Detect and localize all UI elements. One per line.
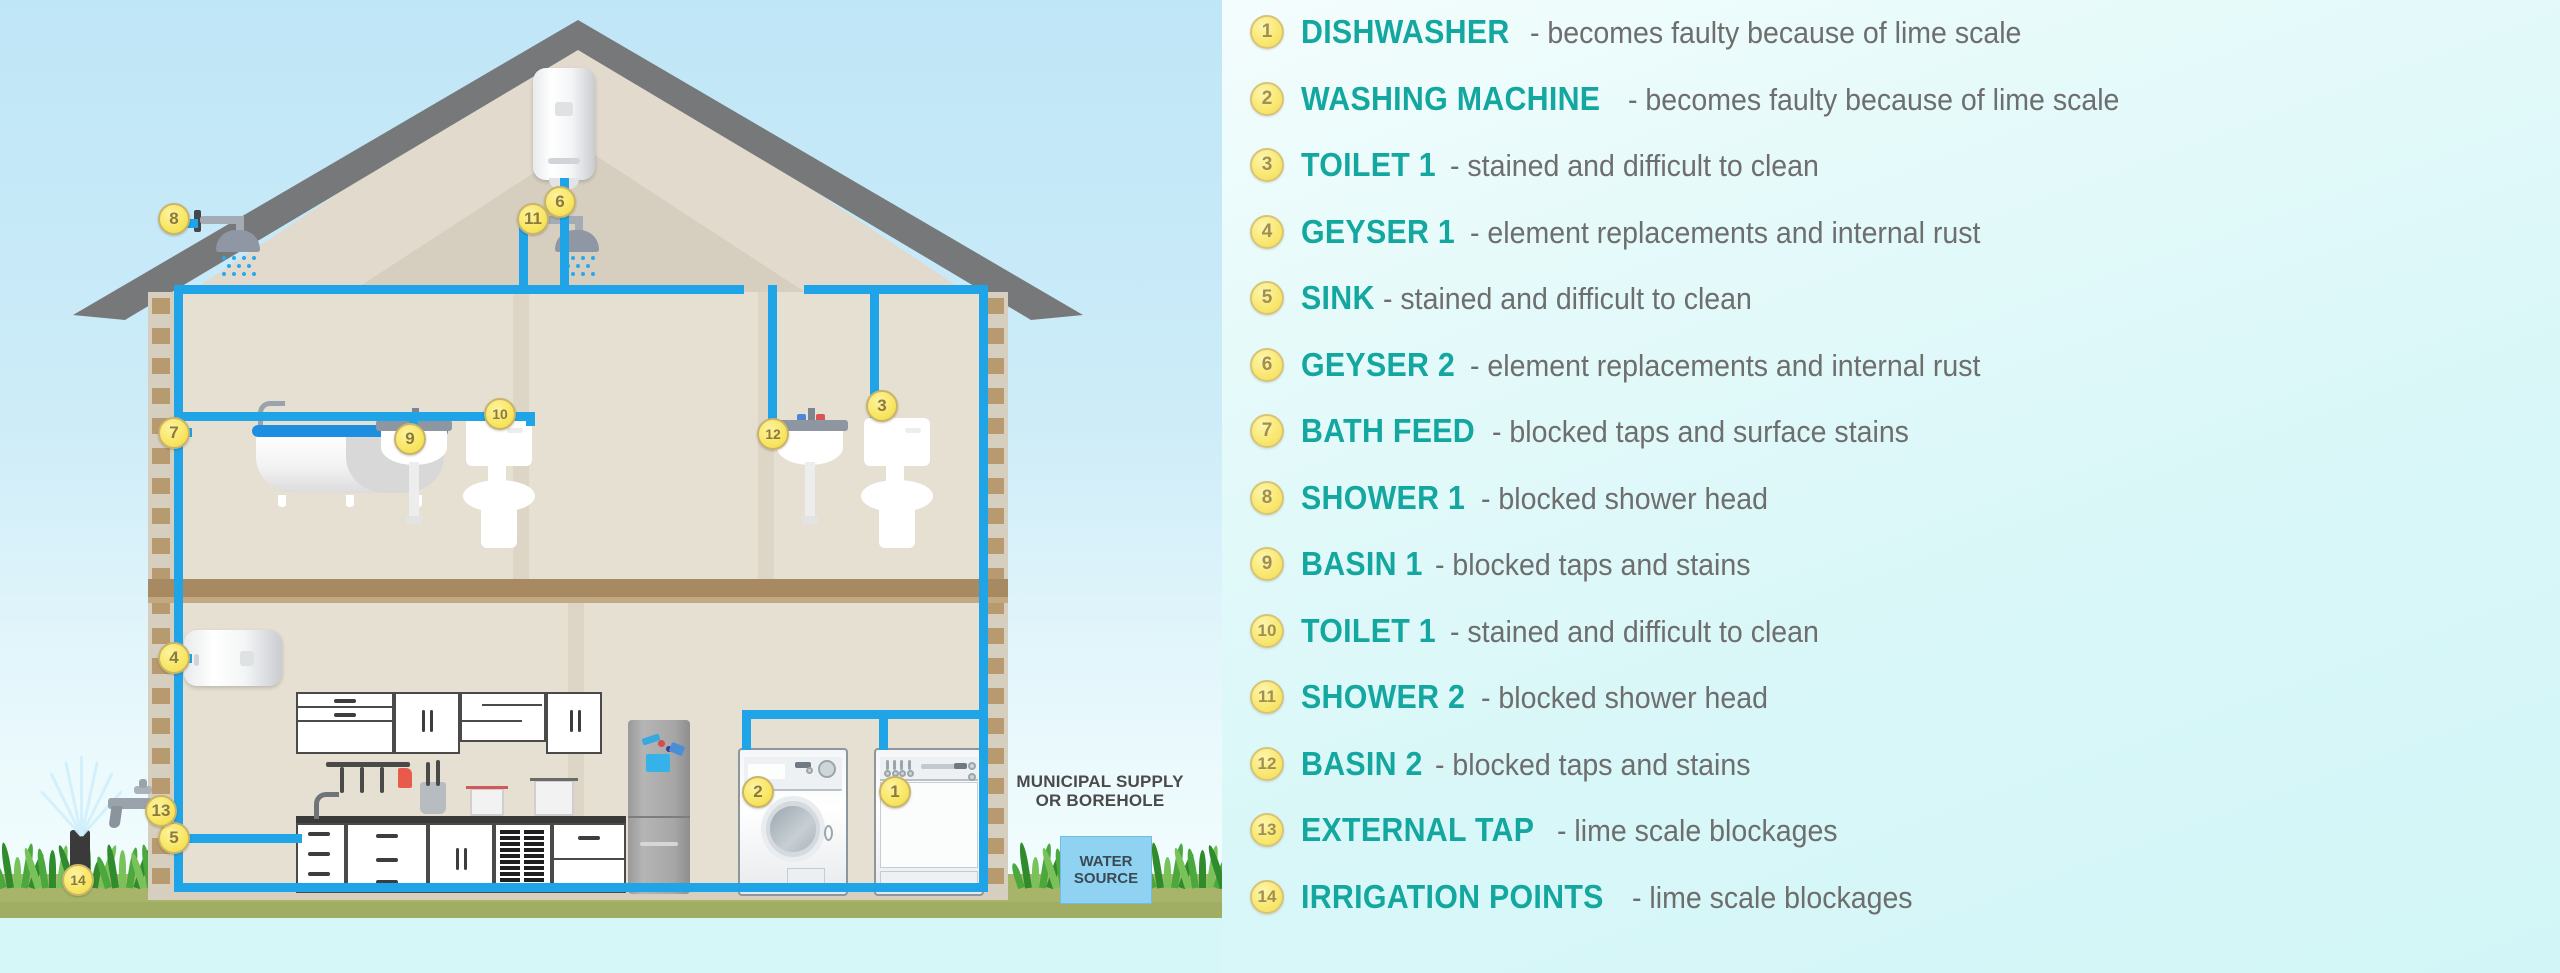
geyser-label <box>240 651 254 666</box>
cooking-pot <box>470 788 504 816</box>
legend-badge-1: 1 <box>1250 15 1284 49</box>
brick <box>986 868 1004 884</box>
legend-row-7[interactable]: 7BATH FEED - blocked taps and surface st… <box>1250 411 1945 451</box>
pipe-dishwasher-drop <box>879 710 888 750</box>
legend-row-11[interactable]: 11SHOWER 2 - blocked shower head <box>1250 677 1793 717</box>
kitchen-upper-cabinet <box>394 692 460 754</box>
marker-7[interactable]: 7 <box>158 417 190 449</box>
legend-name-8: SHOWER 1 <box>1301 479 1465 517</box>
basin-pedestal <box>805 462 814 522</box>
oven-grill-line <box>500 866 520 870</box>
legend-row-12[interactable]: 12BASIN 2 - blocked taps and stains <box>1250 744 1778 784</box>
floor-slab <box>148 579 1008 597</box>
legend-text-2: WASHING MACHINE - becomes faulty because… <box>1301 80 2163 118</box>
legend-name-12: BASIN 2 <box>1301 745 1423 783</box>
basin-pedestal <box>409 462 418 522</box>
brick <box>986 718 1004 734</box>
dishwasher <box>874 748 984 896</box>
geyser-label <box>555 102 573 116</box>
pipe-utility-branch <box>742 710 979 719</box>
legend-badge-3: 3 <box>1250 148 1284 182</box>
municipal-line-2: OR BOREHOLE <box>1000 791 1200 810</box>
marker-14[interactable]: 14 <box>62 864 94 896</box>
brick <box>986 448 1004 464</box>
brick <box>152 718 170 734</box>
oven-grill-line <box>500 872 520 876</box>
brick <box>152 868 170 884</box>
brick <box>152 328 170 344</box>
oven-glove <box>398 768 412 788</box>
grass-blade <box>14 857 21 888</box>
ground-strip-dark <box>0 902 1222 918</box>
legend-desc-14: - lime scale blockages <box>1632 880 1913 916</box>
legend-text-3: TOILET 1 - stained and difficult to clea… <box>1301 146 1851 184</box>
marker-10[interactable]: 10 <box>484 398 516 430</box>
oven-grill-line <box>500 878 520 882</box>
legend-name-2: WASHING MACHINE <box>1301 80 1600 118</box>
legend-badge-6: 6 <box>1250 348 1284 382</box>
legend-name-1: DISHWASHER <box>1301 13 1510 51</box>
legend-desc-8: - blocked shower head <box>1481 481 1768 517</box>
legend-row-9[interactable]: 9BASIN 1 - blocked taps and stains <box>1250 544 1778 584</box>
legend-row-4[interactable]: 4GEYSER 1 - element replacements and int… <box>1250 212 2025 252</box>
toilet-handle <box>507 428 523 433</box>
legend-badge-8: 8 <box>1250 481 1284 515</box>
marker-13[interactable]: 13 <box>145 795 177 827</box>
legend-name-9: BASIN 1 <box>1301 545 1423 583</box>
legend-badge-11: 11 <box>1250 680 1284 714</box>
brick <box>986 328 1004 344</box>
legend-name-13: EXTERNAL TAP <box>1301 811 1534 849</box>
pipe-upper-main-left <box>174 285 744 294</box>
legend-text-8: SHOWER 1 - blocked shower head <box>1301 479 1793 517</box>
municipal-line-1: MUNICIPAL SUPPLY <box>1000 772 1200 791</box>
legend-name-6: GEYSER 2 <box>1301 346 1455 384</box>
marker-1[interactable]: 1 <box>879 776 911 808</box>
pipe-left-riser <box>174 285 183 892</box>
water-source-line-2: SOURCE <box>1074 870 1138 887</box>
legend-badge-10: 10 <box>1250 614 1284 648</box>
fridge-magnet <box>658 740 665 747</box>
oven-grill-line <box>524 836 544 840</box>
geyser-vent <box>548 158 580 164</box>
oven-grill <box>500 830 546 886</box>
brick <box>152 688 170 704</box>
legend-badge-2: 2 <box>1250 82 1284 116</box>
municipal-supply-label: MUNICIPAL SUPPLY OR BOREHOLE <box>1000 772 1200 810</box>
brick <box>152 298 170 314</box>
kitchen-countertop <box>296 816 626 823</box>
legend-desc-5: - stained and difficult to clean <box>1383 281 1752 317</box>
pipe-bottom-main <box>174 883 980 892</box>
tap-spout <box>108 806 122 828</box>
bathtub-foot <box>346 495 354 507</box>
oven-grill-line <box>524 872 544 876</box>
utensil-rail <box>326 762 410 767</box>
legend-badge-9: 9 <box>1250 547 1284 581</box>
floor-slab-edge <box>148 597 1008 603</box>
oven-grill-line <box>524 842 544 846</box>
legend-row-5[interactable]: 5SINK - stained and difficult to clean <box>1250 278 1784 318</box>
kitchen-upper-cabinet <box>546 692 602 754</box>
water-source-box: WATER SOURCE <box>1060 836 1152 904</box>
kitchen-sink-tap <box>314 792 339 819</box>
shower-1 <box>194 210 264 280</box>
brick <box>986 658 1004 674</box>
marker-6[interactable]: 6 <box>544 186 576 218</box>
legend-desc-12: - blocked taps and stains <box>1435 747 1751 783</box>
toilet-pedestal <box>481 506 518 548</box>
fridge-magnet <box>669 742 686 757</box>
fridge-door-split <box>628 816 690 818</box>
tap-knob <box>139 779 147 788</box>
legend-row-14[interactable]: 14IRRIGATION POINTS - lime scale blockag… <box>1250 877 1937 917</box>
toilet-handle <box>905 428 921 433</box>
pipe-washing-machine-drop <box>742 710 751 750</box>
pipe-upper-branch <box>174 412 534 421</box>
infographic-root: 6 8 11 9 10 12 3 7 4 5 2 1 13 14 MUNICIP… <box>0 0 2560 973</box>
legend-badge-7: 7 <box>1250 414 1284 448</box>
shower-head-icon <box>216 230 260 252</box>
legend-badge-12: 12 <box>1250 747 1284 781</box>
legend-text-10: TOILET 1 - stained and difficult to clea… <box>1301 612 1851 650</box>
legend-panel: 1DISHWASHER - becomes faulty because of … <box>1222 0 2560 973</box>
legend-row-1[interactable]: 1DISHWASHER - becomes faulty because of … <box>1250 12 2064 52</box>
legend-name-5: SINK <box>1301 279 1375 317</box>
legend-text-9: BASIN 1 - blocked taps and stains <box>1301 545 1778 583</box>
toilet-upper-1 <box>466 418 532 550</box>
legend-desc-7: - blocked taps and surface stains <box>1492 414 1909 450</box>
legend-text-12: BASIN 2 - blocked taps and stains <box>1301 745 1778 783</box>
legend-row-3[interactable]: 3TOILET 1 - stained and difficult to cle… <box>1250 145 1851 185</box>
oven-grill-line <box>524 860 544 864</box>
legend-text-14: IRRIGATION POINTS - lime scale blockages <box>1301 878 1937 916</box>
cooking-pot <box>534 780 574 816</box>
legend-text-7: BATH FEED - blocked taps and surface sta… <box>1301 412 1945 450</box>
brick <box>152 508 170 524</box>
legend-desc-9: - blocked taps and stains <box>1435 547 1751 583</box>
fridge-handle <box>640 842 678 846</box>
legend-desc-3: - stained and difficult to clean <box>1450 148 1819 184</box>
oven-grill-line <box>524 878 544 882</box>
house-structure: 6 8 11 9 10 12 3 7 4 5 2 1 <box>148 20 1008 900</box>
house-cutaway-illustration: 6 8 11 9 10 12 3 7 4 5 2 1 13 14 MUNICIP… <box>0 0 1222 918</box>
utensil-holder <box>420 782 446 814</box>
toilet-cistern <box>864 418 930 466</box>
basin-pedestal-base <box>406 516 421 524</box>
oven-grill-line <box>500 854 520 858</box>
marker-11[interactable]: 11 <box>517 203 549 235</box>
brick <box>986 478 1004 494</box>
legend-badge-13: 13 <box>1250 813 1284 847</box>
brick <box>152 388 170 404</box>
legend-desc-1: - becomes faulty because of lime scale <box>1530 15 2021 51</box>
brick <box>986 358 1004 374</box>
legend-text-13: EXTERNAL TAP - lime scale blockages <box>1301 811 1862 849</box>
oven-grill-line <box>524 866 544 870</box>
pipe-toilet10-drop <box>526 412 535 426</box>
fridge-note <box>646 754 670 772</box>
grass-blade <box>49 850 56 888</box>
brick <box>986 418 1004 434</box>
legend-desc-10: - stained and difficult to clean <box>1450 614 1819 650</box>
pipe-right-riser <box>979 285 988 892</box>
marker-3[interactable]: 3 <box>866 390 898 422</box>
bathtub-foot <box>278 495 286 507</box>
washing-machine <box>738 748 848 896</box>
marker-8[interactable]: 8 <box>158 203 190 235</box>
legend-desc-6: - element replacements and internal rust <box>1470 348 1980 384</box>
water-source-line-1: WATER <box>1074 853 1138 870</box>
geyser-vent <box>194 654 199 666</box>
pipe-sink-stub <box>174 834 302 843</box>
brick <box>986 808 1004 824</box>
marker-2[interactable]: 2 <box>742 776 774 808</box>
oven-grill-line <box>500 848 520 852</box>
geyser-1-kitchen <box>184 630 282 686</box>
legend-desc-4: - element replacements and internal rust <box>1470 215 1980 251</box>
legend-name-3: TOILET 1 <box>1301 146 1436 184</box>
door-latch <box>824 825 833 841</box>
legend-name-11: SHOWER 2 <box>1301 678 1465 716</box>
legend-name-7: BATH FEED <box>1301 412 1475 450</box>
legend-name-4: GEYSER 1 <box>1301 213 1455 251</box>
basin-pedestal-base <box>802 516 817 524</box>
brick <box>152 628 170 644</box>
grass-blade <box>1199 850 1206 888</box>
legend-row-13[interactable]: 13EXTERNAL TAP - lime scale blockages <box>1250 810 1862 850</box>
grass-right-b <box>1150 842 1222 888</box>
brick <box>986 688 1004 704</box>
oven-grill-line <box>500 842 520 846</box>
pipe-basin2-drop <box>768 285 777 420</box>
brick <box>986 838 1004 854</box>
legend-badge-14: 14 <box>1250 880 1284 914</box>
legend-desc-13: - lime scale blockages <box>1557 813 1838 849</box>
brick <box>152 448 170 464</box>
legend-badge-5: 5 <box>1250 281 1284 315</box>
legend-text-11: SHOWER 2 - blocked shower head <box>1301 678 1793 716</box>
legend-name-10: TOILET 1 <box>1301 612 1436 650</box>
oven-grill-line <box>524 848 544 852</box>
pipe-upper-main-right <box>804 285 988 294</box>
toilet-1 <box>864 418 930 550</box>
brick <box>152 538 170 554</box>
oven-grill-line <box>500 836 520 840</box>
brick <box>152 478 170 494</box>
marker-12[interactable]: 12 <box>757 418 789 450</box>
grass-blade <box>1032 857 1039 888</box>
legend-desc-11: - blocked shower head <box>1481 680 1768 716</box>
brick <box>152 748 170 764</box>
legend-text-6: GEYSER 2 - element replacements and inte… <box>1301 346 2025 384</box>
legend-row-2[interactable]: 2WASHING MACHINE - becomes faulty becaus… <box>1250 79 2163 119</box>
grass-blade <box>119 850 126 888</box>
legend-row-10[interactable]: 10TOILET 1 - stained and difficult to cl… <box>1250 611 1851 651</box>
legend-desc-2: - becomes faulty because of lime scale <box>1628 82 2119 118</box>
kitchen-extractor-hood <box>460 692 546 742</box>
geyser-2-attic <box>533 68 595 180</box>
grass-blade <box>1164 857 1171 888</box>
legend-name-14: IRRIGATION POINTS <box>1301 878 1604 916</box>
brick <box>986 388 1004 404</box>
refrigerator <box>628 720 690 894</box>
legend-row-6[interactable]: 6GEYSER 2 - element replacements and int… <box>1250 345 2025 385</box>
oven-grill-line <box>524 854 544 858</box>
marker-4[interactable]: 4 <box>158 642 190 674</box>
legend-text-5: SINK - stained and difficult to clean <box>1301 279 1784 317</box>
legend-row-8[interactable]: 8SHOWER 1 - blocked shower head <box>1250 478 1793 518</box>
brick <box>986 748 1004 764</box>
legend-text-1: DISHWASHER - becomes faulty because of l… <box>1301 13 2064 51</box>
brick <box>986 538 1004 554</box>
brick <box>986 298 1004 314</box>
oven-grill-line <box>524 830 544 834</box>
legend-text-4: GEYSER 1 - element replacements and inte… <box>1301 213 2025 251</box>
toilet-pedestal <box>879 506 916 548</box>
legend-badge-4: 4 <box>1250 215 1284 249</box>
brick <box>986 628 1004 644</box>
brick <box>986 508 1004 524</box>
brick <box>152 358 170 374</box>
oven-grill-line <box>500 860 520 864</box>
marker-9[interactable]: 9 <box>394 423 426 455</box>
oven-grill-line <box>500 830 520 834</box>
